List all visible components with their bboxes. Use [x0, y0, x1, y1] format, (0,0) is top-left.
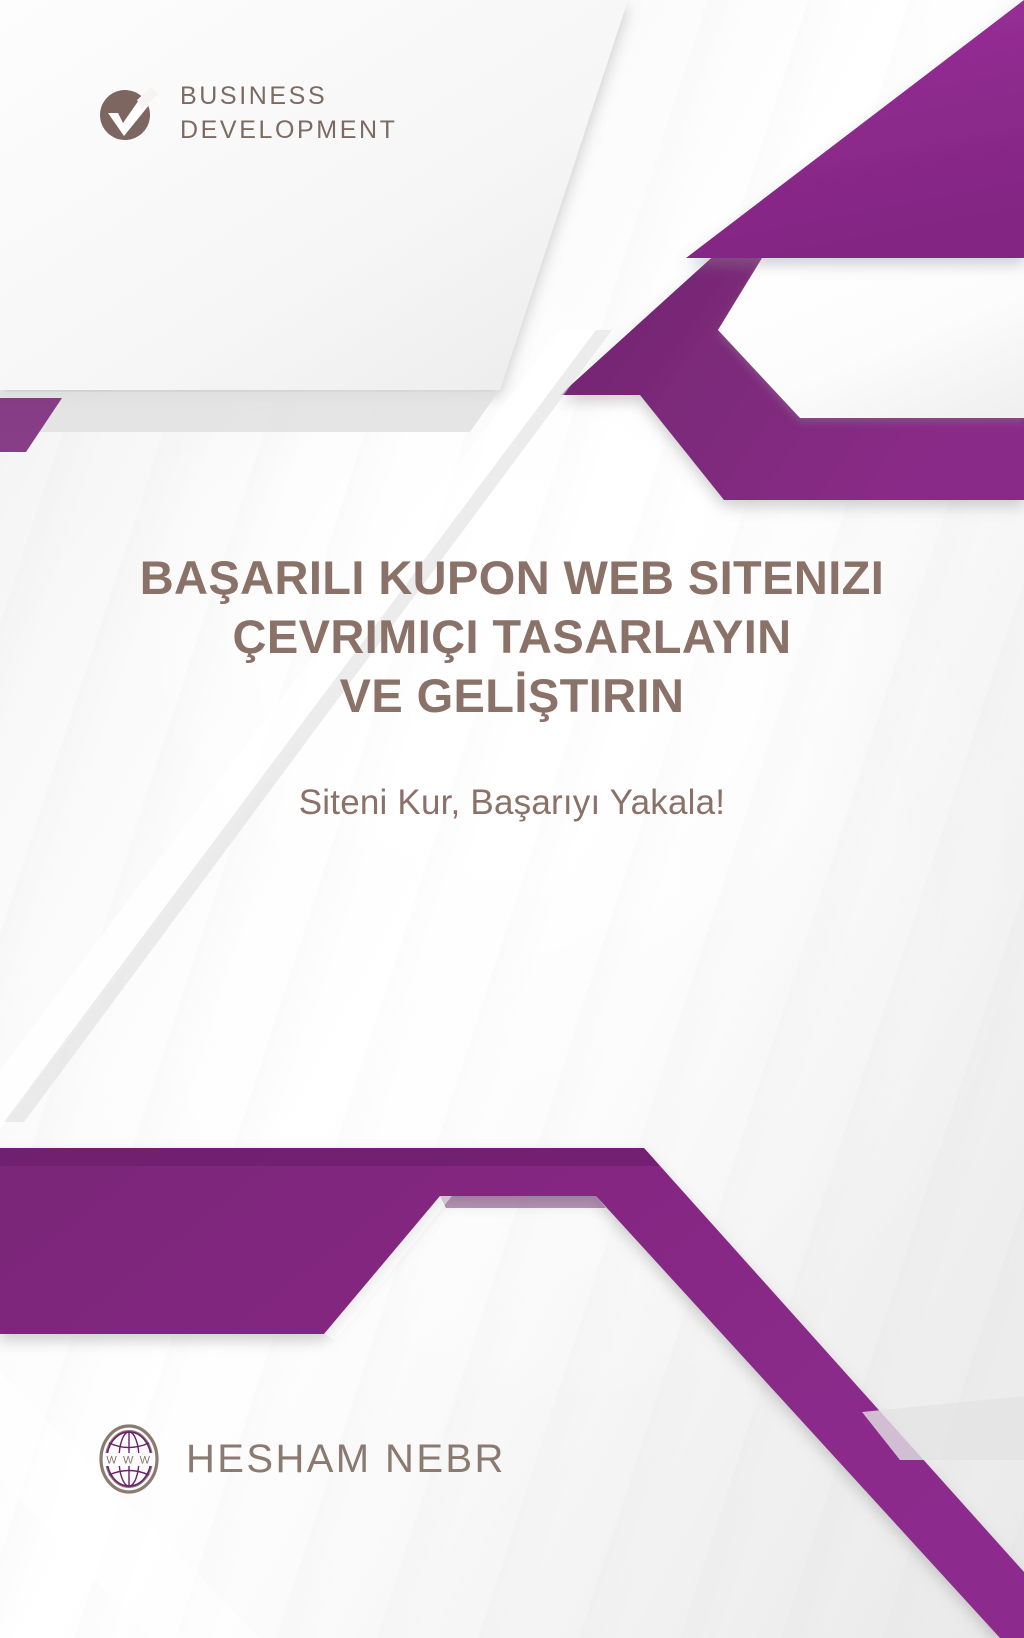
author-block: W W W HESHAM NEBR — [98, 1424, 506, 1494]
author-name: HESHAM NEBR — [186, 1437, 506, 1482]
title-line-3: VE GELİŞTIRIN — [70, 666, 954, 725]
globe-www-label: W W W — [106, 1455, 151, 1467]
brand-text: BUSINESS DEVELOPMENT — [180, 84, 398, 143]
globe-www-icon: W W W — [98, 1424, 160, 1494]
brand-line-development: DEVELOPMENT — [180, 118, 398, 143]
brand-header: BUSINESS DEVELOPMENT — [96, 82, 398, 144]
brand-line-business: BUSINESS — [180, 84, 398, 109]
title-line-2: ÇEVRIMIÇI TASARLAYIN — [70, 607, 954, 666]
title-block: BAŞARILI KUPON WEB SITENIZI ÇEVRIMIÇI TA… — [0, 548, 1024, 824]
book-cover: BUSINESS DEVELOPMENT BAŞARILI KUPON WEB … — [0, 0, 1024, 1638]
check-circle-icon — [96, 82, 158, 144]
subtitle: Siteni Kur, Başarıyı Yakala! — [70, 782, 954, 824]
title-line-1: BAŞARILI KUPON WEB SITENIZI — [70, 548, 954, 607]
